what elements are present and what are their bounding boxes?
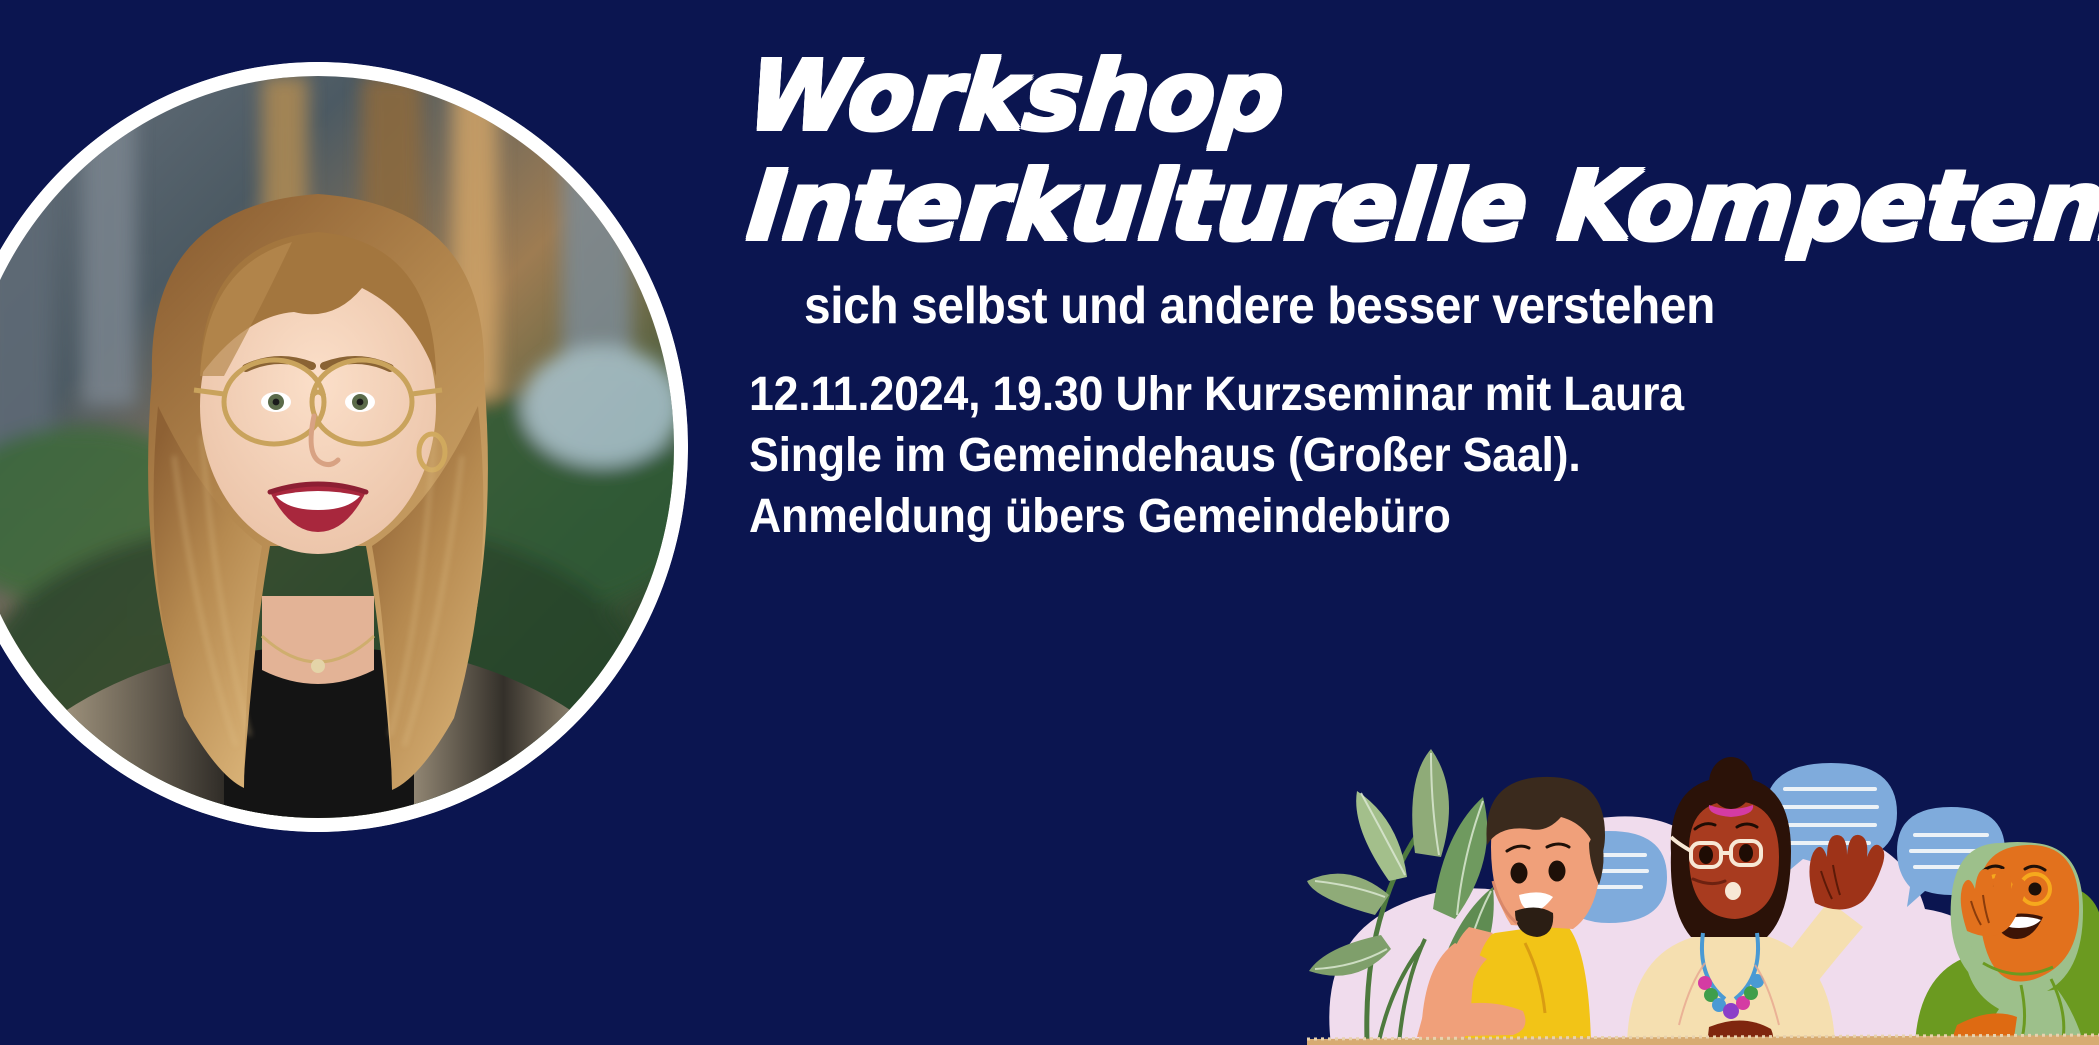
subtitle: sich selbst und andere besser verstehen — [804, 276, 1715, 336]
avatar — [0, 62, 688, 832]
event-details: 12.11.2024, 19.30 Uhr Kurzseminar mit La… — [749, 364, 1649, 547]
event-detail-line-1: 12.11.2024, 19.30 Uhr Kurzseminar mit La… — [749, 364, 1586, 425]
text-block: Workshop Interkulturelle Kompetenz sich … — [740, 0, 2060, 1045]
event-banner: Workshop Interkulturelle Kompetenz sich … — [0, 0, 2099, 1045]
headline-line-1: Workshop — [744, 48, 1288, 144]
event-detail-line-2: Single im Gemeindehaus (Großer Saal). — [749, 425, 1586, 486]
headline-line-2: Interkulturelle Kompetenz — [744, 158, 2099, 254]
event-detail-line-3: Anmeldung übers Gemeindebüro — [749, 486, 1586, 547]
